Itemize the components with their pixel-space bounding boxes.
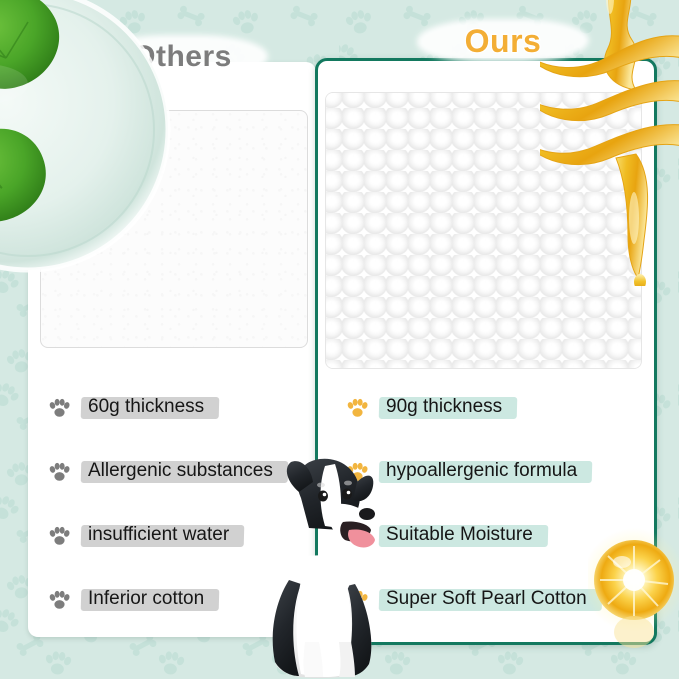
paw-icon	[47, 459, 72, 483]
paw-icon	[47, 523, 72, 547]
feature-label: 60g thickness	[81, 395, 213, 420]
feature-label: hypoallergenic formula	[379, 459, 586, 484]
ours-cotton-swatch	[325, 92, 642, 369]
list-item: Suitable Moisture	[345, 518, 542, 552]
list-item: Inferior cotton	[47, 582, 213, 616]
others-title: Others	[102, 32, 262, 82]
paw-icon	[345, 395, 370, 419]
list-item: 90g thickness	[345, 390, 511, 424]
list-item: insufficient water	[47, 518, 238, 552]
list-item: Super Soft Pearl Cotton	[345, 582, 596, 616]
feature-label: Super Soft Pearl Cotton	[379, 587, 596, 612]
feature-label: Suitable Moisture	[379, 523, 542, 548]
feature-label: Allergenic substances	[81, 459, 282, 484]
feature-label: Inferior cotton	[81, 587, 213, 612]
list-item: 60g thickness	[47, 390, 213, 424]
others-cotton-swatch	[40, 110, 308, 348]
ours-title: Ours	[428, 16, 578, 66]
feature-label: 90g thickness	[379, 395, 511, 420]
comparison-infographic: Others 60g thickness Allergenic substanc…	[0, 0, 679, 679]
paw-icon	[345, 523, 370, 547]
pearl-texture-highlight	[325, 92, 642, 369]
paw-icon	[345, 587, 370, 611]
paw-icon	[47, 395, 72, 419]
feature-label: insufficient water	[81, 523, 238, 548]
paw-icon	[47, 587, 72, 611]
list-item: Allergenic substances	[47, 454, 282, 488]
list-item: hypoallergenic formula	[345, 454, 586, 488]
paw-icon	[345, 459, 370, 483]
plain-cotton-texture	[41, 111, 307, 347]
